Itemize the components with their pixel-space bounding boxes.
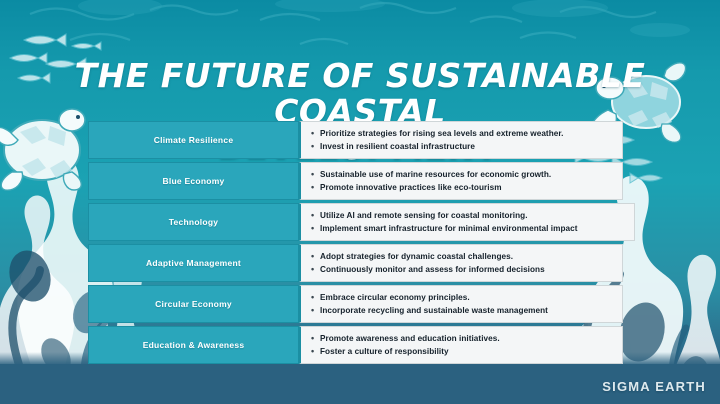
row-label-cell: Blue Economy xyxy=(88,162,299,200)
row-label: Climate Resilience xyxy=(154,135,234,145)
row-points-cell: • Embrace circular economy principles. •… xyxy=(299,285,623,323)
bullet-point: • Promote awareness and education initia… xyxy=(311,332,616,345)
bullet-icon: • xyxy=(311,332,320,345)
row-label: Education & Awareness xyxy=(143,340,245,350)
bullet-text: Adopt strategies for dynamic coastal cha… xyxy=(320,250,616,263)
bullet-point: • Continuously monitor and assess for in… xyxy=(311,263,616,276)
row-label-cell: Education & Awareness xyxy=(88,326,299,364)
bullet-icon: • xyxy=(311,181,320,194)
table-row: Climate Resilience • Prioritize strategi… xyxy=(88,121,623,159)
table-row: Blue Economy • Sustainable use of marine… xyxy=(88,162,623,200)
bullet-text: Sustainable use of marine resources for … xyxy=(320,168,616,181)
page-title-line1: THE FUTURE OF SUSTAINABLE COASTAL xyxy=(75,56,646,131)
row-points-cell: • Promote awareness and education initia… xyxy=(299,326,623,364)
watermark-logo: SIGMA EARTH xyxy=(602,379,706,394)
bullet-icon: • xyxy=(311,168,320,181)
row-label-cell: Climate Resilience xyxy=(88,121,299,159)
bullet-point: • Adopt strategies for dynamic coastal c… xyxy=(311,250,616,263)
table-row: Circular Economy • Embrace circular econ… xyxy=(88,285,623,323)
bullet-point: • Implement smart infrastructure for min… xyxy=(311,222,628,235)
bullet-point: • Sustainable use of marine resources fo… xyxy=(311,168,616,181)
bullet-icon: • xyxy=(311,209,320,222)
bullet-icon: • xyxy=(311,140,320,153)
bullet-text: Implement smart infrastructure for minim… xyxy=(320,222,628,235)
bullet-point: • Embrace circular economy principles. xyxy=(311,291,616,304)
row-label: Technology xyxy=(169,217,219,227)
table-row: Education & Awareness • Promote awarenes… xyxy=(88,326,623,364)
row-label-cell: Adaptive Management xyxy=(88,244,299,282)
row-points-cell: • Sustainable use of marine resources fo… xyxy=(299,162,623,200)
bullet-icon: • xyxy=(311,127,320,140)
bullet-text: Continuously monitor and assess for info… xyxy=(320,263,616,276)
bullet-text: Embrace circular economy principles. xyxy=(320,291,616,304)
row-label: Blue Economy xyxy=(162,176,224,186)
bullet-point: • Invest in resilient coastal infrastruc… xyxy=(311,140,616,153)
row-points-cell: • Prioritize strategies for rising sea l… xyxy=(299,121,623,159)
table-row: Adaptive Management • Adopt strategies f… xyxy=(88,244,623,282)
bullet-text: Promote awareness and education initiati… xyxy=(320,332,616,345)
bullet-text: Incorporate recycling and sustainable wa… xyxy=(320,304,616,317)
bullet-icon: • xyxy=(311,222,320,235)
row-points-cell: • Adopt strategies for dynamic coastal c… xyxy=(299,244,623,282)
row-label: Circular Economy xyxy=(155,299,232,309)
bullet-point: • Foster a culture of responsibility xyxy=(311,345,616,358)
bullet-text: Utilize AI and remote sensing for coasta… xyxy=(320,209,628,222)
bullet-text: Promote innovative practices like eco-to… xyxy=(320,181,616,194)
content-table: Climate Resilience • Prioritize strategi… xyxy=(88,121,623,367)
bullet-icon: • xyxy=(311,250,320,263)
bullet-icon: • xyxy=(311,291,320,304)
bullet-text: Invest in resilient coastal infrastructu… xyxy=(320,140,616,153)
bullet-icon: • xyxy=(311,345,320,358)
row-label: Adaptive Management xyxy=(146,258,241,268)
bullet-point: • Incorporate recycling and sustainable … xyxy=(311,304,616,317)
table-row: Technology • Utilize AI and remote sensi… xyxy=(88,203,623,241)
bullet-text: Prioritize strategies for rising sea lev… xyxy=(320,127,616,140)
row-label-cell: Technology xyxy=(88,203,299,241)
bullet-point: • Prioritize strategies for rising sea l… xyxy=(311,127,616,140)
poster-canvas: THE FUTURE OF SUSTAINABLE COASTAL DEVELO… xyxy=(0,0,720,404)
row-points-cell: • Utilize AI and remote sensing for coas… xyxy=(299,203,635,241)
bullet-point: • Promote innovative practices like eco-… xyxy=(311,181,616,194)
bullet-text: Foster a culture of responsibility xyxy=(320,345,616,358)
bullet-point: • Utilize AI and remote sensing for coas… xyxy=(311,209,628,222)
bullet-icon: • xyxy=(311,304,320,317)
bullet-icon: • xyxy=(311,263,320,276)
row-label-cell: Circular Economy xyxy=(88,285,299,323)
